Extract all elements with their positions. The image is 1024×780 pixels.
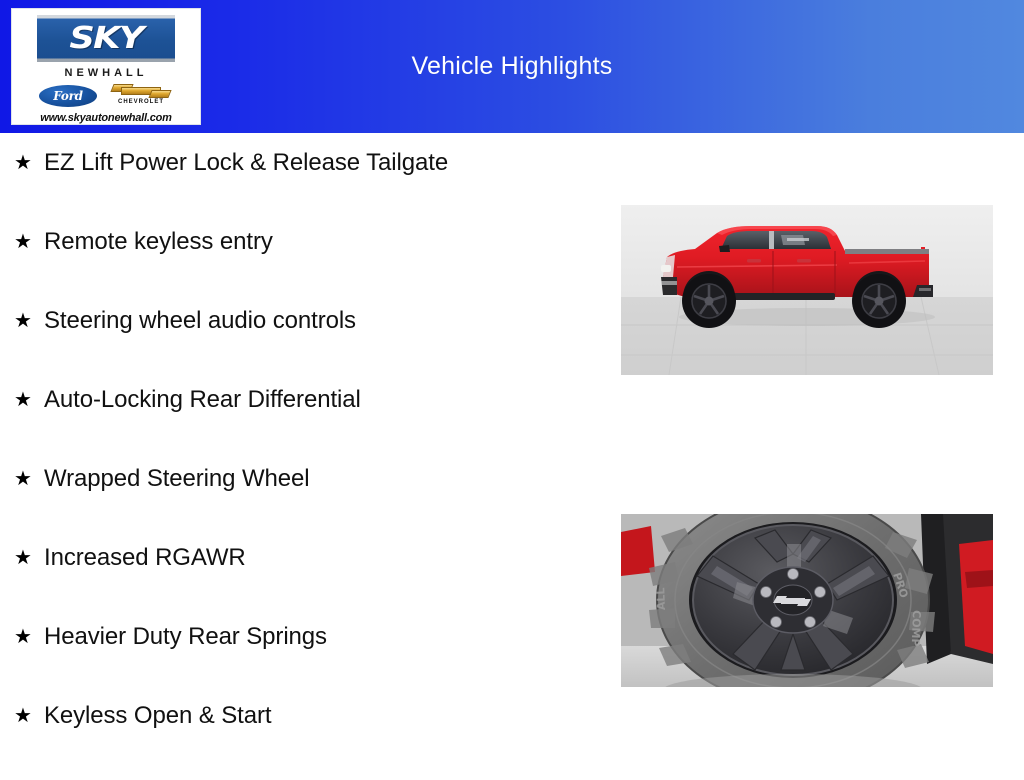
list-item: ★ EZ Lift Power Lock & Release Tailgate: [0, 148, 600, 227]
list-item: ★ Heavier Duty Rear Springs: [0, 622, 600, 701]
list-item-label: Heavier Duty Rear Springs: [44, 622, 327, 652]
bowtie-right-wing: [148, 90, 171, 98]
star-icon: ★: [14, 543, 44, 573]
list-item-label: Wrapped Steering Wheel: [44, 464, 310, 494]
svg-text:ALL: ALL: [654, 587, 668, 610]
star-icon: ★: [14, 227, 44, 257]
chevrolet-logo-label: CHEVROLET: [118, 99, 164, 105]
sky-logo-text: SKY: [69, 24, 142, 54]
newhall-logo-text: NEWHALL: [65, 67, 148, 79]
truck-illustration: [621, 205, 993, 375]
list-item: ★ Steering wheel audio controls: [0, 306, 600, 385]
chevrolet-bowtie-icon: [112, 83, 170, 98]
wheel-closeup-photo[interactable]: PRO COMP ALL: [621, 514, 993, 687]
star-icon: ★: [14, 701, 44, 731]
svg-text:COMP: COMP: [909, 610, 923, 647]
list-item-label: Remote keyless entry: [44, 227, 273, 257]
list-item-label: Keyless Open & Start: [44, 701, 271, 731]
list-item-label: Steering wheel audio controls: [44, 306, 356, 336]
list-item: ★ Remote keyless entry: [0, 227, 600, 306]
wheel-illustration: PRO COMP ALL: [621, 514, 993, 687]
list-item: ★ Keyless Open & Start: [0, 701, 600, 780]
chevrolet-logo-icon: CHEVROLET: [108, 83, 174, 109]
star-icon: ★: [14, 306, 44, 336]
vehicle-highlights-list: ★ EZ Lift Power Lock & Release Tailgate …: [0, 148, 600, 780]
dealer-logo[interactable]: SKY NEWHALL Ford CHEVROLET www.skyautone…: [11, 8, 201, 125]
list-item-label: EZ Lift Power Lock & Release Tailgate: [44, 148, 448, 178]
vehicle-side-profile-photo[interactable]: [621, 205, 993, 375]
dealer-website-url: www.skyautonewhall.com: [40, 112, 172, 124]
list-item-label: Auto-Locking Rear Differential: [44, 385, 361, 415]
sky-logo-plate: SKY: [37, 15, 175, 62]
star-icon: ★: [14, 385, 44, 415]
list-item: ★ Auto-Locking Rear Differential: [0, 385, 600, 464]
star-icon: ★: [14, 464, 44, 494]
ford-logo-icon: Ford: [38, 84, 98, 108]
list-item: ★ Wrapped Steering Wheel: [0, 464, 600, 543]
brand-logos-row: Ford CHEVROLET: [26, 83, 186, 109]
list-item: ★ Increased RGAWR: [0, 543, 600, 622]
list-item-label: Increased RGAWR: [44, 543, 246, 573]
star-icon: ★: [14, 148, 44, 178]
star-icon: ★: [14, 622, 44, 652]
ford-logo-label: Ford: [53, 90, 82, 102]
